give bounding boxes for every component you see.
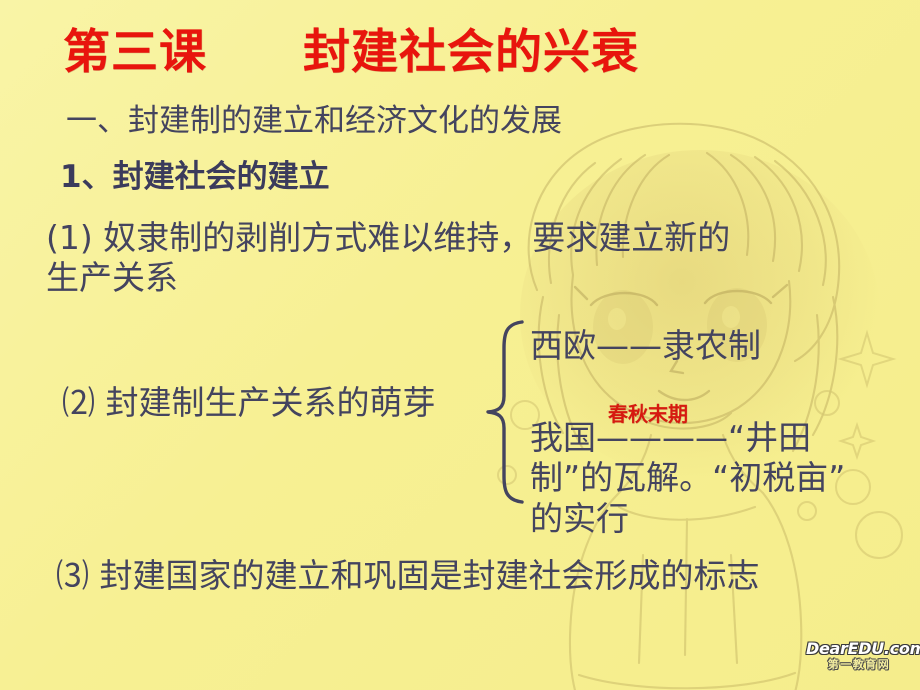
slide-title: 第三课 封建社会的兴衰 [63,27,639,80]
curly-brace [482,318,528,506]
deare du-watermark-logo: DearEDU.com 第一教育网 [806,641,912,683]
logo-sub-text: 第一教育网 [806,659,912,670]
subsection-heading: 1、封建社会的建立 [60,160,330,195]
outline-point-2-label: ⑵ 封建制生产关系的萌芽 [62,385,436,422]
branch-western-europe: 西欧——隶农制 [530,328,761,365]
red-annotation-spring-autumn: 春秋末期 [608,404,688,424]
logo-main-text: DearEDU.com [806,641,912,657]
section-heading: 一、封建制的建立和经济文化的发展 [66,104,562,139]
branch-china: 我国————“井田制”的瓦解。“初税亩”的实行 [530,418,860,539]
outline-point-1: (1) 奴隶制的剥削方式难以维持，要求建立新的生产关系 [46,218,736,299]
presentation-slide: 第三课 封建社会的兴衰 一、封建制的建立和经济文化的发展 1、封建社会的建立 (… [0,0,920,690]
outline-point-3: ⑶ 封建国家的建立和巩固是封建社会形成的标志 [56,556,796,596]
